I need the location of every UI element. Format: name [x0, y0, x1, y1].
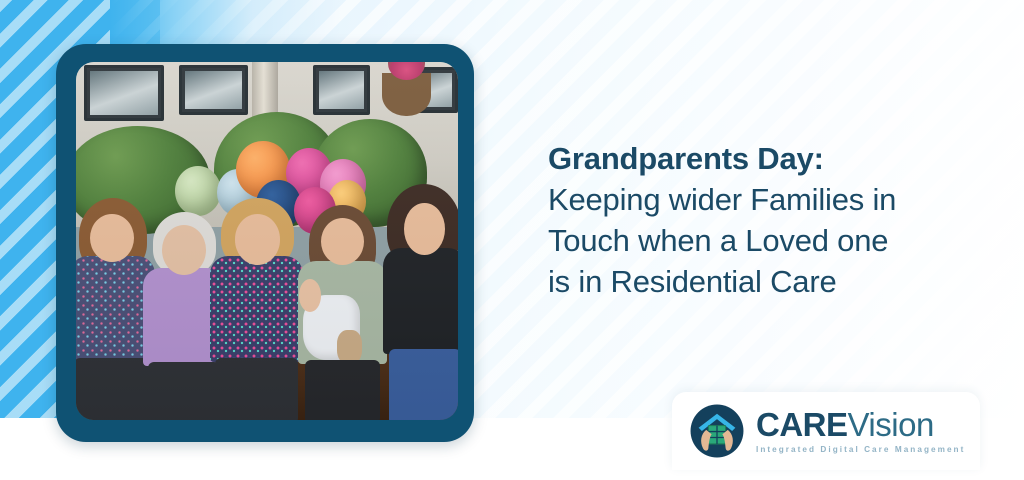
headline-line-1: Grandparents Day:: [548, 138, 994, 179]
baby: [303, 295, 360, 359]
brand-wordmark: CAREVision Integrated Digital Care Manag…: [756, 408, 965, 454]
face: [235, 214, 281, 265]
window-icon: [179, 65, 248, 114]
hanging-flower-basket: [382, 73, 432, 116]
person: [210, 198, 306, 420]
face: [404, 203, 444, 255]
legs: [76, 358, 151, 420]
face: [162, 225, 206, 275]
headline-block: Grandparents Day: Keeping wider Families…: [548, 138, 994, 302]
headline-emphasis: Grandparents Day: [548, 138, 814, 179]
headline-line-4: is in Residential Care: [548, 261, 994, 302]
brand-logo[interactable]: CAREVision Integrated Digital Care Manag…: [672, 392, 980, 470]
carevision-logo-icon: [690, 404, 744, 458]
window-icon: [84, 65, 164, 121]
legs: [305, 360, 380, 420]
headline-line-2: Keeping wider Families in: [548, 179, 994, 220]
brand-name: CAREVision: [756, 408, 965, 442]
brand-name-secondary: Vision: [848, 406, 934, 443]
brand-tagline: Integrated Digital Care Management: [756, 445, 965, 454]
brand-name-primary: CARE: [756, 406, 848, 443]
torso: [210, 256, 304, 363]
family-photo: [76, 62, 458, 420]
photo-scene: [76, 62, 458, 420]
legs: [215, 358, 297, 420]
window-icon: [313, 65, 370, 114]
promotional-banner: Grandparents Day: Keeping wider Families…: [0, 0, 1024, 480]
legs: [389, 349, 458, 420]
person: [298, 205, 390, 420]
torso: [383, 248, 458, 354]
headline-line-3: Touch when a Loved one: [548, 220, 994, 261]
person: [382, 184, 458, 420]
photo-frame: [56, 44, 474, 442]
headline-colon: :: [814, 141, 824, 176]
